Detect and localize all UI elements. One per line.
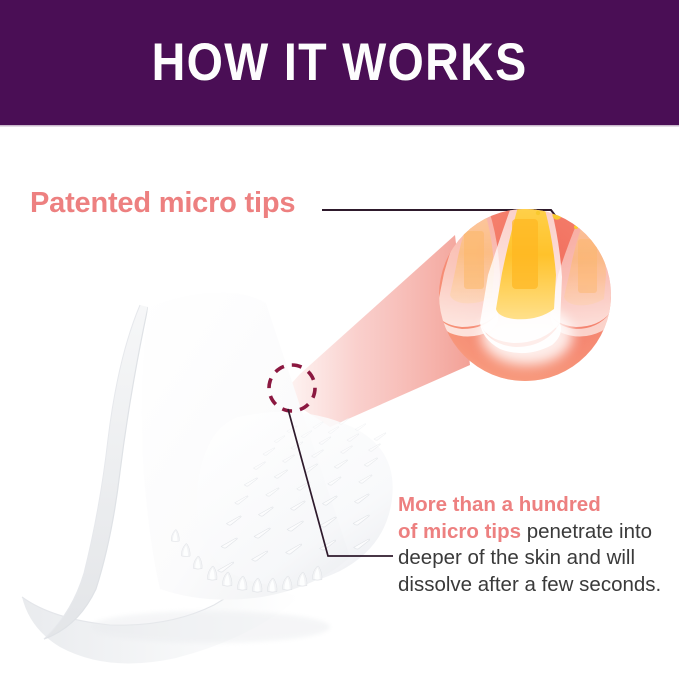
header-banner: HOW IT WORKS: [0, 0, 679, 125]
callout-highlight-line-1: More than a hundred: [398, 493, 601, 516]
callout-highlight-line-2: of micro tips: [398, 520, 521, 543]
page-title: HOW IT WORKS: [152, 36, 528, 89]
illustration-area: Patented micro tips More than a hundred …: [0, 127, 679, 679]
callout-description: More than a hundred of micro tips penetr…: [398, 492, 666, 598]
magnified-micro-tips-circle: [435, 155, 615, 429]
magnification-beam: [281, 235, 470, 427]
callout-patented-micro-tips: Patented micro tips: [30, 187, 295, 220]
